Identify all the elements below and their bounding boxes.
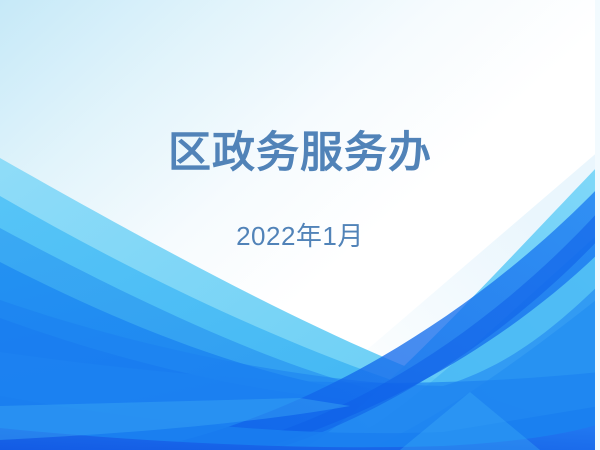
slide-title: 区政务服务办 <box>0 131 600 176</box>
slide-subtitle-date: 2022年1月 <box>0 222 600 251</box>
presentation-slide: 区政务服务办 2022年1月 <box>0 0 600 450</box>
slide-text-layer: 区政务服务办 2022年1月 <box>0 0 600 450</box>
